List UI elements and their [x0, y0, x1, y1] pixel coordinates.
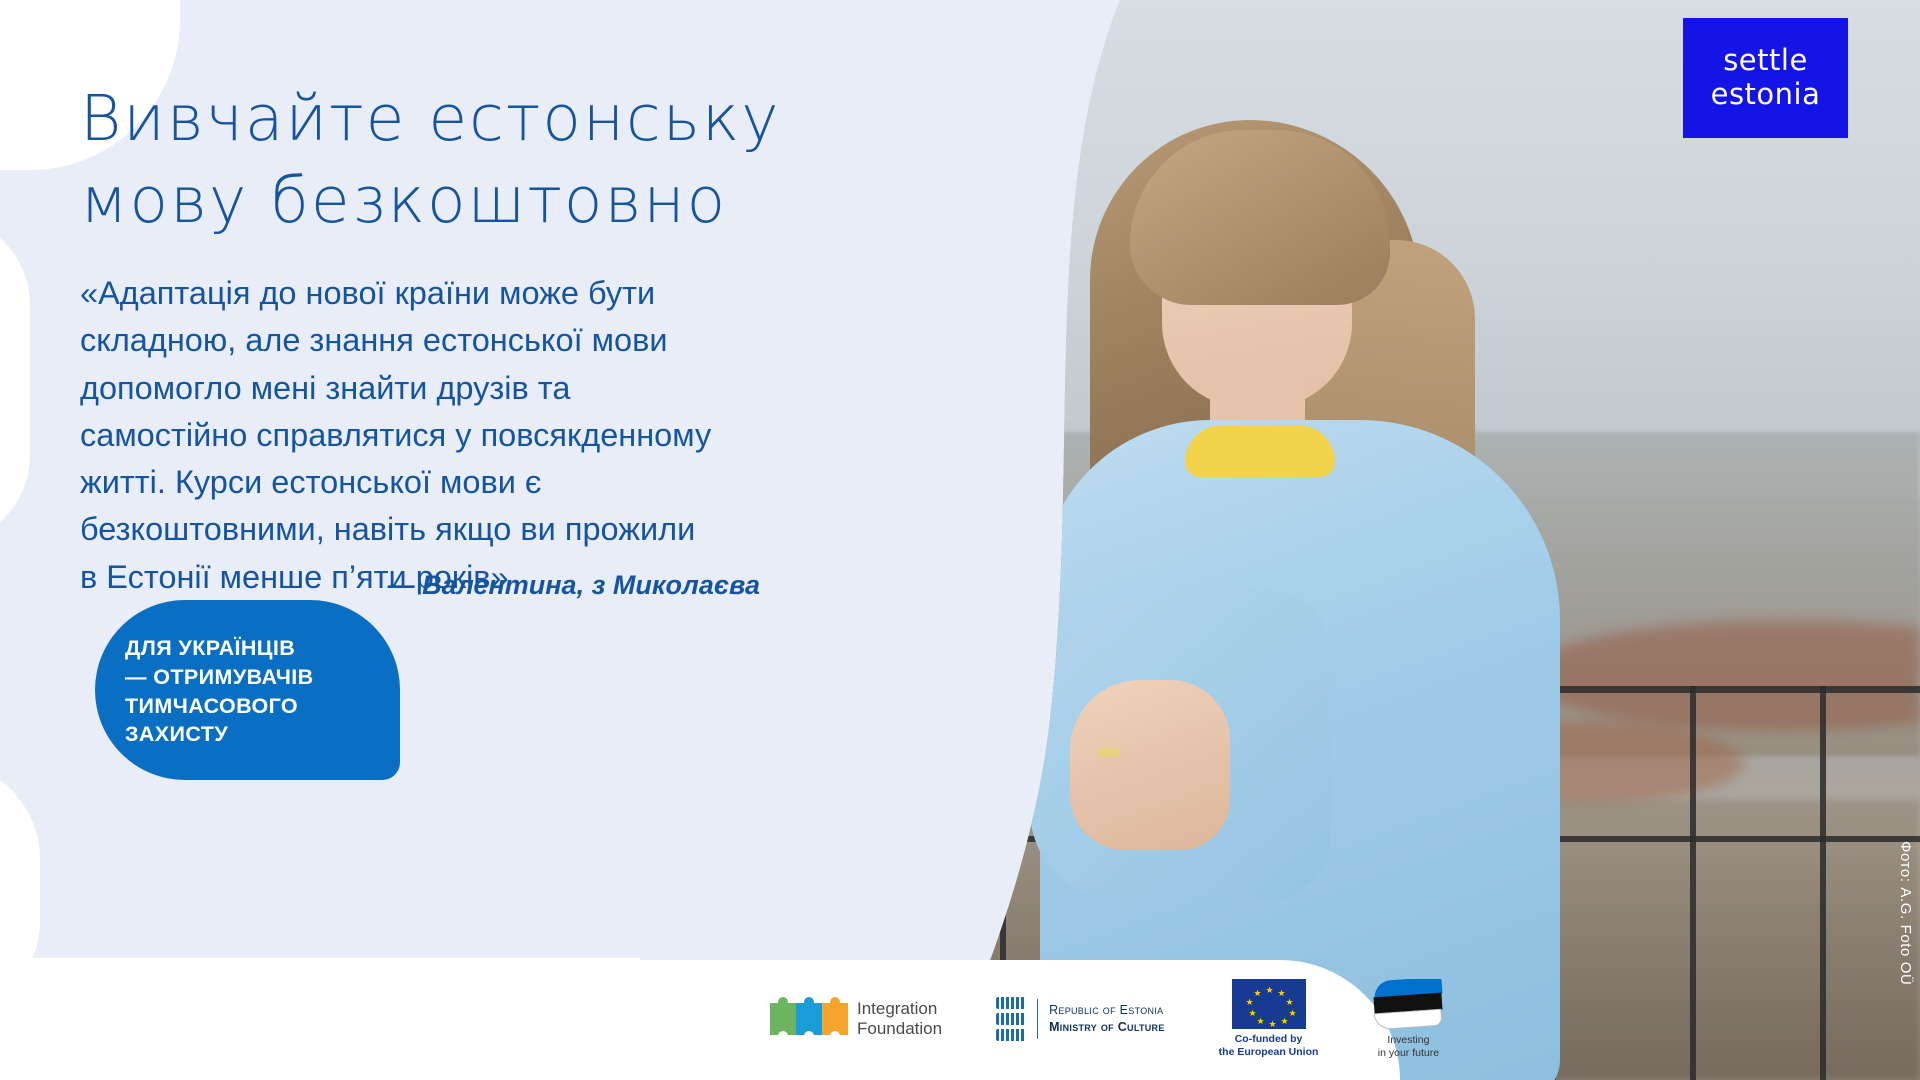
integration-foundation-text: Integration Foundation: [857, 999, 942, 1039]
footer-logos: Integration Foundation Republic of Eston…: [0, 958, 1920, 1080]
badge-line-1: ДЛЯ УКРАЇНЦІВ: [125, 634, 375, 663]
ministry-of-culture-logo[interactable]: Republic of Estonia Ministry of Culture: [996, 997, 1165, 1041]
ministry-line-2: Ministry of Culture: [1049, 1019, 1165, 1036]
estonia-flag-icon: [1372, 979, 1444, 1031]
testimonial-quote: «Адаптація до нової країни може бути скл…: [80, 270, 800, 601]
yellow-collar: [1185, 425, 1335, 477]
puzzle-icon: [770, 997, 848, 1041]
ministry-line-1: Republic of Estonia: [1049, 1002, 1165, 1019]
badge-line-2: — ОТРИМУВАЧІВ: [125, 663, 375, 692]
if-line-1: Integration: [857, 999, 942, 1019]
badge-line-4: ЗАХИСТУ: [125, 720, 375, 749]
logo-line-1: settle: [1723, 44, 1808, 78]
divider: [1037, 999, 1038, 1039]
badge-line-3: ТИМЧАСОВОГО: [125, 692, 375, 721]
badge-text: ДЛЯ УКРАЇНЦІВ — ОТРИМУВАЧІВ ТИМЧАСОВОГО …: [125, 634, 375, 749]
estonia-coat-of-arms-icon: [996, 997, 1026, 1041]
estonia-investing-logo[interactable]: Investing in your future: [1372, 979, 1444, 1059]
eu-flag-icon: ★ ★ ★ ★ ★ ★ ★ ★ ★ ★: [1232, 979, 1306, 1029]
ee-line-1: Investing: [1372, 1034, 1444, 1047]
ring: [1098, 748, 1120, 757]
logo-line-2: estonia: [1711, 78, 1821, 112]
page-title: Вивчайте естонську мову безкоштовно: [80, 78, 900, 242]
quote-line-3: допомогло мені знайти друзів та: [80, 365, 800, 412]
settle-estonia-logo[interactable]: settle estonia: [1683, 18, 1848, 138]
eu-caption: Co-funded by the European Union: [1219, 1033, 1319, 1058]
ee-line-2: in your future: [1372, 1047, 1444, 1060]
ministry-text: Republic of Estonia Ministry of Culture: [1049, 1002, 1165, 1036]
estonia-fund-caption: Investing in your future: [1372, 1034, 1444, 1059]
quote-line-5: житті. Курси естонської мови є: [80, 459, 800, 506]
hands: [1070, 680, 1230, 850]
poster-canvas: Вивчайте естонську мову безкоштовно «Ада…: [0, 0, 1920, 1080]
quote-line-2: складною, але знання естонської мови: [80, 317, 800, 364]
target-audience-badge: ДЛЯ УКРАЇНЦІВ — ОТРИМУВАЧІВ ТИМЧАСОВОГО …: [95, 600, 400, 780]
headline-line-1: Вивчайте естонську: [80, 78, 900, 160]
eu-line-1: Co-funded by: [1219, 1033, 1319, 1046]
integration-foundation-logo[interactable]: Integration Foundation: [770, 997, 942, 1041]
notch-middle-left: [0, 215, 30, 545]
quote-line-1: «Адаптація до нової країни може бути: [80, 270, 800, 317]
photo-region: [790, 0, 1920, 1080]
quote-line-4: самостійно справлятися у повсякденному: [80, 412, 800, 459]
eu-line-2: the European Union: [1219, 1046, 1319, 1059]
if-line-2: Foundation: [857, 1019, 942, 1039]
quote-line-6: безкоштовними, навіть якщо ви прожили: [80, 506, 800, 553]
european-union-logo[interactable]: ★ ★ ★ ★ ★ ★ ★ ★ ★ ★ Co-funded by the Eur…: [1219, 979, 1319, 1058]
headline-line-2: мову безкоштовно: [80, 160, 900, 242]
woman-portrait: [970, 120, 1670, 1080]
quote-attribution: — Валентина, з Миколаєва: [80, 570, 760, 601]
portrait-photo: [790, 0, 1920, 1080]
